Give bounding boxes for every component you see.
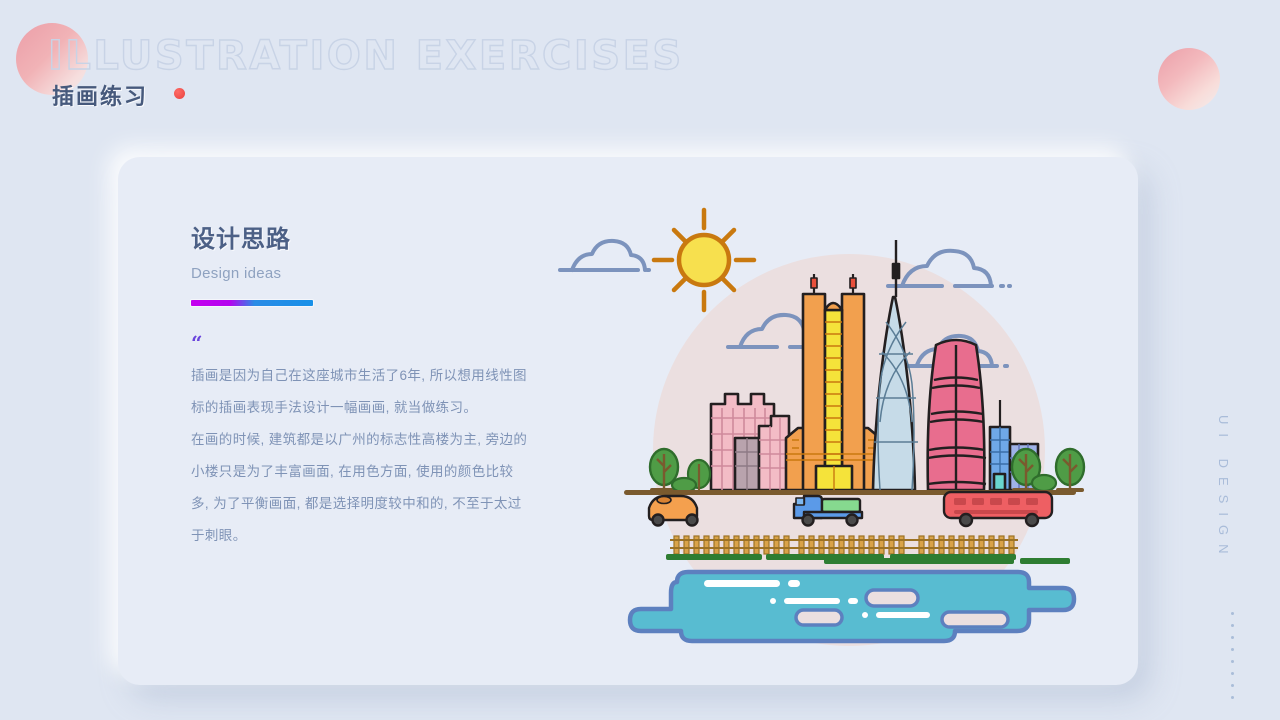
gradient-divider — [191, 300, 313, 306]
building-ctf-tower — [928, 340, 986, 490]
paragraph-1: 插画是因为自己在这座城市生活了6年, 所以想用线性图标的插画表现手法设计一幅画画… — [191, 360, 531, 424]
design-ideas-section: 设计思路 Design ideas “ 插画是因为自己在这座城市生活了6年, 所… — [191, 219, 531, 552]
side-dot-decoration — [1231, 612, 1234, 699]
building-pink-slab — [759, 416, 789, 490]
orange-car — [649, 496, 698, 526]
section-title: 设计思路 — [191, 219, 531, 254]
side-label-ui-design: UI DESIGN — [1216, 415, 1231, 562]
bush — [672, 478, 696, 492]
tree — [1056, 449, 1084, 492]
page-title-outline: ILLUSTRATION EXERCISES — [48, 33, 684, 79]
page-header: ILLUSTRATION EXERCISES 插画练习 — [0, 0, 1280, 130]
section-subtitle: Design ideas — [191, 265, 531, 282]
building-grey-slab — [735, 438, 759, 490]
page-title-cn: 插画练习 — [52, 79, 148, 111]
accent-dot-icon — [174, 88, 185, 99]
bush — [1032, 475, 1056, 491]
city-illustration — [614, 202, 1084, 672]
quote-mark-icon: “ — [191, 333, 531, 353]
cloud-far-left — [560, 241, 649, 270]
content-card: 设计思路 Design ideas “ 插画是因为自己在这座城市生活了6年, 所… — [118, 157, 1138, 685]
river — [630, 572, 1074, 641]
paragraph-2: 在画的时候, 建筑都是以广州的标志性高楼为主, 旁边的小楼只是为了丰富画面, 在… — [191, 424, 531, 552]
